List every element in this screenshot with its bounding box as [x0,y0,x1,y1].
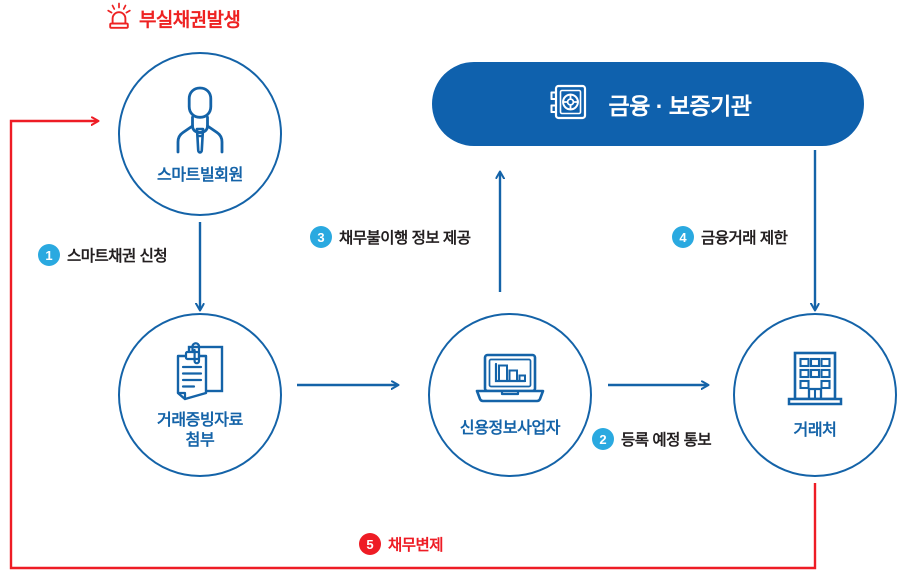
step-text-4: 금융거래 제한 [701,226,787,248]
node-smartbill-member: 스마트빌회원 [118,52,282,216]
step-text-2: 등록 예정 통보 [621,428,711,450]
node-label-smartbill-member: 스마트빌회원 [157,166,243,186]
alarm-siren-icon [106,2,132,35]
step-text-3: 채무불이행 정보 제공 [339,226,470,248]
alert-label: 부실채권발생 [139,5,240,32]
step-text-1: 스마트채권 신청 [67,244,167,266]
node-credit-info-operator: 신용정보사업자 [428,313,592,477]
step-label-4: 4 금융거래 제한 [672,226,787,248]
businessman-person-icon [164,82,236,158]
step-text-5: 채무변제 [388,533,443,555]
step-label-1: 1 스마트채권 신청 [38,244,167,266]
step-badge-2: 2 [592,428,614,450]
step-label-2: 2 등록 예정 통보 [592,428,711,450]
org-bar-label: 금융 · 보증기관 [609,87,752,121]
step-label-3: 3 채무불이행 정보 제공 [310,226,470,248]
safe-vault-icon [545,79,591,130]
step-badge-5: 5 [359,533,381,555]
node-business-partner: 거래처 [733,313,897,477]
node-label-credit-info-operator: 신용정보사업자 [460,419,560,439]
office-building-icon [780,349,850,411]
node-label-business-partner: 거래처 [794,421,837,441]
node-label-transaction-evidence: 거래증빙자료 첨부 [157,411,243,451]
org-bar-financial-guarantee: 금융 · 보증기관 [432,62,864,146]
step-badge-3: 3 [310,226,332,248]
document-clipboard-icon [166,341,234,405]
step-label-5: 5 채무변제 [359,533,443,555]
step-badge-4: 4 [672,226,694,248]
alert-header: 부실채권발생 [106,2,240,35]
step-badge-1: 1 [38,244,60,266]
arrow-step-5-return-path [11,121,815,568]
node-transaction-evidence: 거래증빙자료 첨부 [118,313,282,477]
laptop-chart-icon [472,351,548,409]
process-flow-diagram: 부실채권발생 [0,0,897,579]
